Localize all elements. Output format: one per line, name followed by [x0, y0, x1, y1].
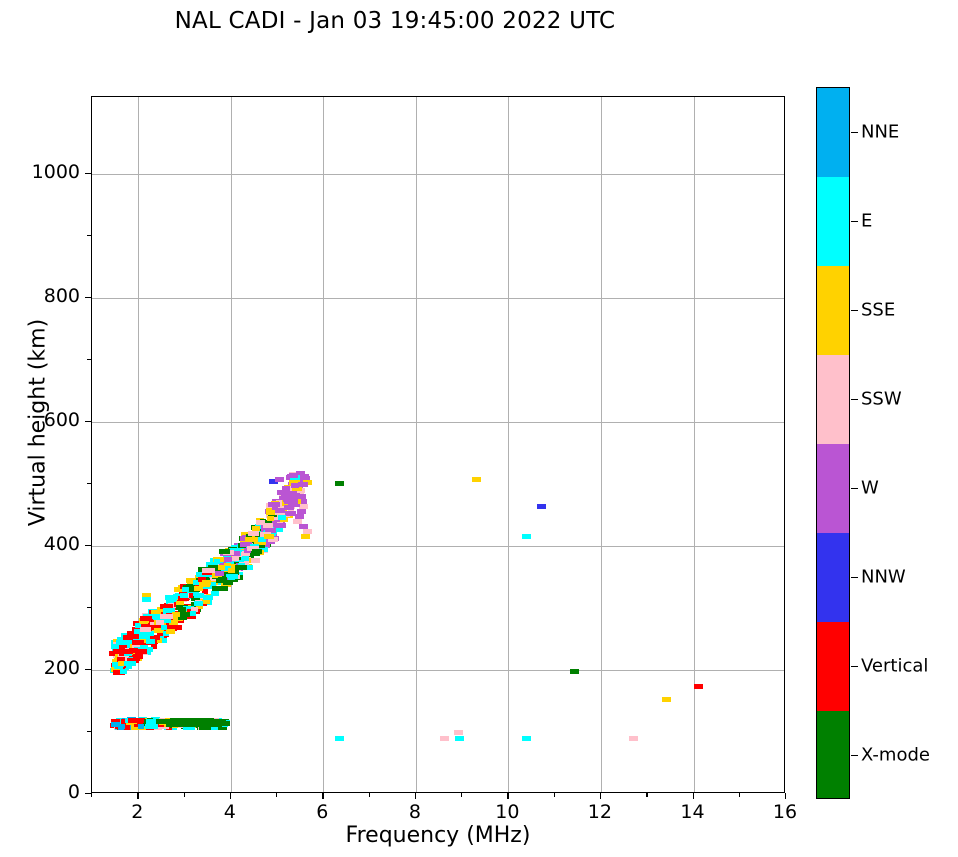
echo-mark — [298, 482, 308, 487]
x-axis-tick — [785, 793, 786, 799]
colorbar-label-e: E — [861, 210, 872, 231]
y-axis-minor-tick — [87, 731, 91, 732]
y-axis-tick — [85, 173, 91, 174]
data-points — [92, 97, 784, 792]
echo-mark — [282, 486, 290, 491]
echo-mark — [140, 627, 151, 632]
echo-mark — [219, 549, 230, 554]
echo-mark — [264, 534, 274, 539]
echo-mark — [169, 722, 177, 727]
echo-mark — [268, 502, 280, 507]
echo-mark — [289, 498, 295, 503]
echo-mark — [256, 520, 265, 525]
echo-mark — [245, 537, 258, 542]
y-axis-label: Virtual height (km) — [26, 233, 51, 613]
echo-mark — [166, 629, 175, 634]
echo-mark — [267, 516, 274, 521]
echo-mark — [454, 730, 463, 735]
colorbar-segment-nnw — [817, 533, 849, 622]
echo-mark — [223, 580, 233, 585]
echo-mark — [138, 724, 144, 729]
x-axis-tick-label: 8 — [385, 801, 445, 823]
colorbar-tick — [851, 577, 858, 578]
y-axis-minor-tick — [87, 359, 91, 360]
y-axis-minor-tick — [87, 607, 91, 608]
echo-mark — [522, 534, 531, 539]
colorbar-segment-x-mode — [817, 711, 849, 799]
x-axis-tick-label: 10 — [477, 801, 537, 823]
echo-mark — [145, 724, 158, 729]
echo-mark — [203, 595, 213, 600]
echo-mark — [140, 616, 152, 621]
echo-mark — [118, 661, 124, 666]
y-axis-tick-label: 200 — [0, 657, 80, 679]
y-axis-tick — [85, 421, 91, 422]
x-axis-minor-tick — [91, 793, 92, 797]
x-axis-minor-tick — [276, 793, 277, 797]
x-axis-tick — [600, 793, 601, 799]
x-axis-tick — [230, 793, 231, 799]
echo-mark — [236, 565, 247, 570]
colorbar-segment-w — [817, 444, 849, 533]
echo-mark — [662, 697, 671, 702]
x-axis-minor-tick — [461, 793, 462, 797]
colorbar-tick — [851, 488, 858, 489]
y-axis-tick — [85, 793, 91, 794]
x-axis-minor-tick — [646, 793, 647, 797]
echo-mark — [277, 490, 289, 495]
colorbar-label-x-mode: X-mode — [861, 744, 930, 765]
echo-mark — [194, 586, 203, 591]
echo-mark — [251, 558, 260, 563]
azimuth-colorbar — [816, 87, 850, 799]
echo-mark — [570, 669, 579, 674]
plot-area — [91, 96, 785, 793]
colorbar-tick — [851, 755, 858, 756]
echo-mark — [228, 568, 235, 573]
echo-mark — [193, 719, 205, 724]
x-axis-tick — [507, 793, 508, 799]
echo-mark — [146, 719, 156, 724]
x-axis-tick — [137, 793, 138, 799]
echo-mark — [335, 481, 344, 486]
echo-mark — [133, 656, 140, 661]
colorbar-tick — [851, 399, 858, 400]
x-axis-minor-tick — [184, 793, 185, 797]
x-axis-minor-tick — [369, 793, 370, 797]
echo-mark — [146, 639, 155, 644]
colorbar-tick — [851, 310, 858, 311]
echo-mark — [694, 684, 703, 689]
echo-mark — [335, 736, 344, 741]
echo-mark — [274, 523, 286, 528]
echo-mark — [248, 531, 259, 536]
colorbar-segment-nne — [817, 88, 849, 177]
echo-mark — [289, 473, 298, 478]
y-axis-tick — [85, 545, 91, 546]
echo-mark — [194, 593, 204, 598]
colorbar-label-sse: SSE — [861, 299, 895, 320]
echo-mark — [178, 607, 186, 612]
colorbar-label-w: W — [861, 477, 879, 498]
echo-mark — [142, 597, 151, 602]
echo-mark — [455, 736, 464, 741]
colorbar-label-nne: NNE — [861, 121, 899, 142]
x-axis-tick — [693, 793, 694, 799]
echo-mark — [629, 736, 638, 741]
colorbar-label-ssw: SSW — [861, 388, 902, 409]
echo-mark — [113, 649, 125, 654]
echo-mark — [472, 477, 481, 482]
echo-mark — [217, 565, 225, 570]
echo-mark — [242, 556, 249, 561]
echo-mark — [215, 571, 224, 576]
colorbar-segment-ssw — [817, 355, 849, 444]
x-axis-tick-label: 14 — [663, 801, 723, 823]
echo-mark — [215, 719, 226, 724]
ionogram-figure: NAL CADI - Jan 03 19:45:00 2022 UTC 2468… — [0, 0, 958, 857]
x-axis-minor-tick — [739, 793, 740, 797]
echo-mark — [131, 718, 144, 723]
x-axis-tick-label: 12 — [570, 801, 630, 823]
y-axis-tick-label: 1000 — [0, 161, 80, 183]
echo-mark — [165, 595, 175, 600]
echo-mark — [440, 736, 449, 741]
echo-mark — [289, 491, 297, 496]
x-axis-tick — [415, 793, 416, 799]
page-title: NAL CADI - Jan 03 19:45:00 2022 UTC — [0, 8, 790, 34]
echo-mark — [202, 568, 215, 573]
y-axis-tick-label: 0 — [0, 781, 80, 803]
echo-mark — [278, 515, 286, 520]
colorbar-tick — [851, 666, 858, 667]
echo-mark — [120, 669, 127, 674]
echo-mark — [212, 586, 220, 591]
x-axis-tick-label: 2 — [107, 801, 167, 823]
echo-mark — [228, 575, 235, 580]
echo-mark — [180, 593, 188, 598]
colorbar-label-nnw: NNW — [861, 566, 906, 587]
colorbar-tick — [851, 132, 858, 133]
echo-mark — [132, 640, 144, 645]
y-axis-minor-tick — [87, 483, 91, 484]
echo-mark — [301, 534, 310, 539]
echo-mark — [135, 649, 147, 654]
colorbar-label-vertical: Vertical — [861, 655, 928, 676]
colorbar-tick — [851, 221, 858, 222]
echo-mark — [190, 611, 196, 616]
echo-mark — [537, 504, 546, 509]
y-axis-tick — [85, 297, 91, 298]
echo-mark — [111, 722, 120, 727]
x-axis-tick-label: 6 — [292, 801, 352, 823]
echo-mark — [522, 736, 531, 741]
echo-mark — [232, 556, 239, 561]
echo-mark — [180, 612, 190, 617]
echo-mark — [194, 601, 203, 606]
echo-mark — [124, 661, 136, 666]
echo-mark — [182, 587, 189, 592]
x-axis-tick-label: 16 — [755, 801, 815, 823]
echo-mark — [161, 625, 167, 630]
echo-mark — [251, 551, 260, 556]
y-axis-tick — [85, 669, 91, 670]
echo-mark — [156, 719, 167, 724]
echo-mark — [160, 614, 173, 619]
y-axis-minor-tick — [87, 235, 91, 236]
colorbar-segment-vertical — [817, 622, 849, 711]
colorbar-segment-e — [817, 177, 849, 266]
colorbar-segment-sse — [817, 266, 849, 355]
x-axis-tick — [322, 793, 323, 799]
echo-mark — [275, 477, 284, 482]
echo-mark — [202, 580, 211, 585]
echo-mark — [286, 511, 292, 516]
echo-mark — [214, 559, 220, 564]
x-axis-tick-label: 4 — [200, 801, 260, 823]
x-axis-minor-tick — [554, 793, 555, 797]
echo-mark — [111, 644, 119, 649]
x-axis-label: Frequency (MHz) — [91, 823, 785, 848]
echo-mark — [182, 719, 191, 724]
echo-mark — [266, 510, 275, 515]
